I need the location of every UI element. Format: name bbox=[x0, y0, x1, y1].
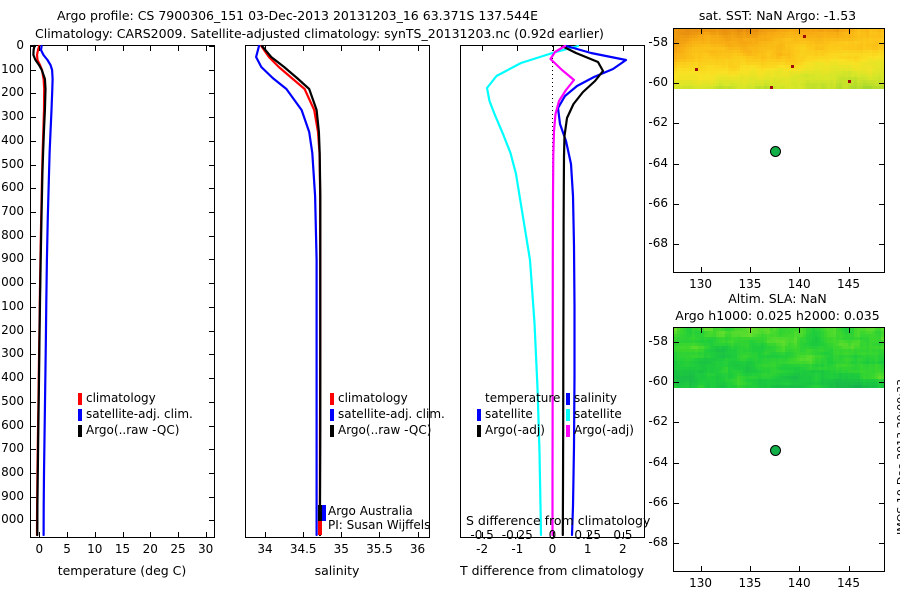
map-lon-tick-label: 135 bbox=[738, 576, 761, 590]
map-lon-tick bbox=[701, 328, 702, 333]
map-lon-tick bbox=[849, 328, 850, 333]
map-lat-tick bbox=[674, 382, 679, 383]
map-lat-tick-label: -60 bbox=[648, 374, 668, 388]
map-lat-tick-label: -66 bbox=[648, 495, 668, 509]
map-lat-tick-label: -68 bbox=[648, 535, 668, 549]
map-lat-tick bbox=[879, 382, 884, 383]
map-lat-tick bbox=[879, 543, 884, 544]
map-lat-tick bbox=[674, 422, 679, 423]
map-lat-tick bbox=[879, 422, 884, 423]
map-lat-tick-label: -64 bbox=[648, 455, 668, 469]
figure-canvas: Argo profile: CS 7900306_151 03-Dec-2013… bbox=[0, 0, 900, 580]
map-lat-tick-label: -62 bbox=[648, 414, 668, 428]
map-lat-tick bbox=[879, 342, 884, 343]
map-lat-tick bbox=[879, 463, 884, 464]
map-lat-tick-label: -58 bbox=[648, 334, 668, 348]
map-lon-tick bbox=[750, 566, 751, 571]
imos-timestamp: IMOS 10-Dec-2013 20:00:33 bbox=[895, 379, 900, 535]
map-lat-tick bbox=[879, 503, 884, 504]
map-lat-tick bbox=[674, 463, 679, 464]
map-lon-tick-label: 140 bbox=[788, 576, 811, 590]
map-lon-tick bbox=[750, 328, 751, 333]
map-lon-tick bbox=[799, 328, 800, 333]
map-lat-tick bbox=[674, 503, 679, 504]
map-lon-tick-label: 130 bbox=[689, 576, 712, 590]
map-lon-tick bbox=[799, 566, 800, 571]
map-sla-axes: 130135140145-58-60-62-64-66-68 bbox=[0, 0, 900, 580]
map-lon-tick bbox=[849, 566, 850, 571]
map-lat-tick bbox=[674, 543, 679, 544]
map-lon-tick bbox=[701, 566, 702, 571]
map-lon-tick-label: 145 bbox=[837, 576, 860, 590]
map-lat-tick bbox=[674, 342, 679, 343]
